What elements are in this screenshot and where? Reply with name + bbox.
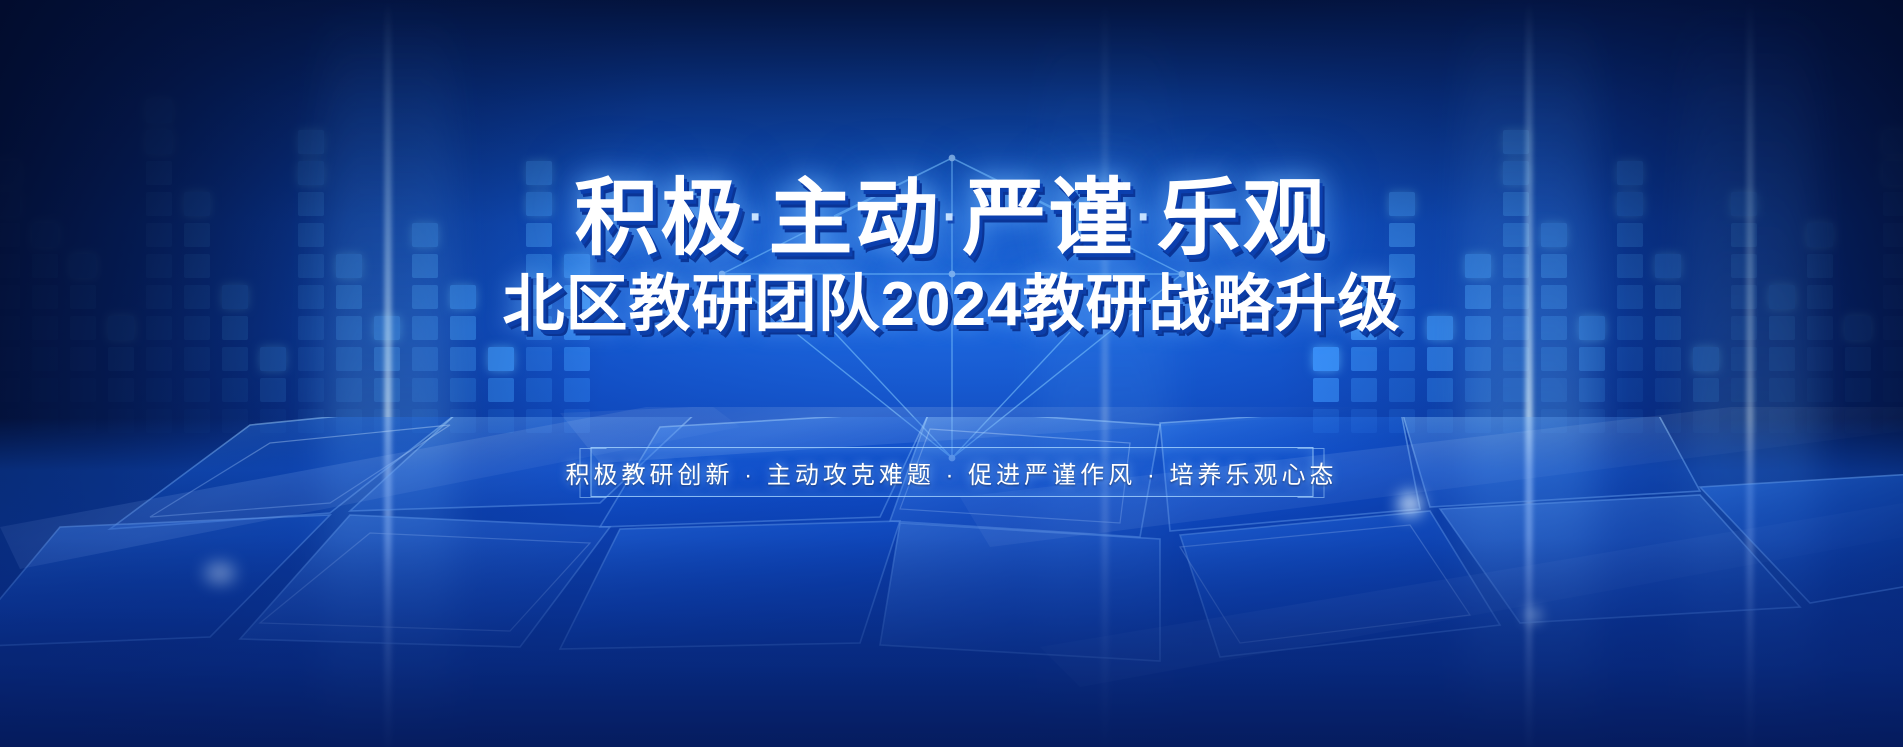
- tagline-text: 积极教研创新 · 主动攻克难题 · 促进严谨作风 · 培养乐观心态: [590, 447, 1313, 497]
- headline-segment-3: 严谨: [962, 171, 1134, 265]
- headline-segment-4: 乐观: [1156, 171, 1328, 265]
- page-subtitle: 北区教研团队2024教研战略升级: [503, 274, 1401, 336]
- event-banner: 积极·主动·严谨·乐观 北区教研团队2024教研战略升级 积极教研创新 · 主动…: [0, 0, 1903, 747]
- headline-separator-1: ·: [747, 191, 769, 244]
- banner-content: 积极·主动·严谨·乐观 北区教研团队2024教研战略升级: [0, 0, 1903, 747]
- headline-segment-2: 主动: [768, 171, 940, 265]
- headline-separator-3: ·: [1135, 191, 1157, 244]
- page-title: 积极·主动·严谨·乐观: [574, 176, 1328, 260]
- headline-separator-2: ·: [941, 191, 963, 244]
- tagline-container: 积极教研创新 · 主动攻克难题 · 促进严谨作风 · 培养乐观心态: [590, 447, 1313, 497]
- headline-segment-1: 积极: [574, 171, 746, 265]
